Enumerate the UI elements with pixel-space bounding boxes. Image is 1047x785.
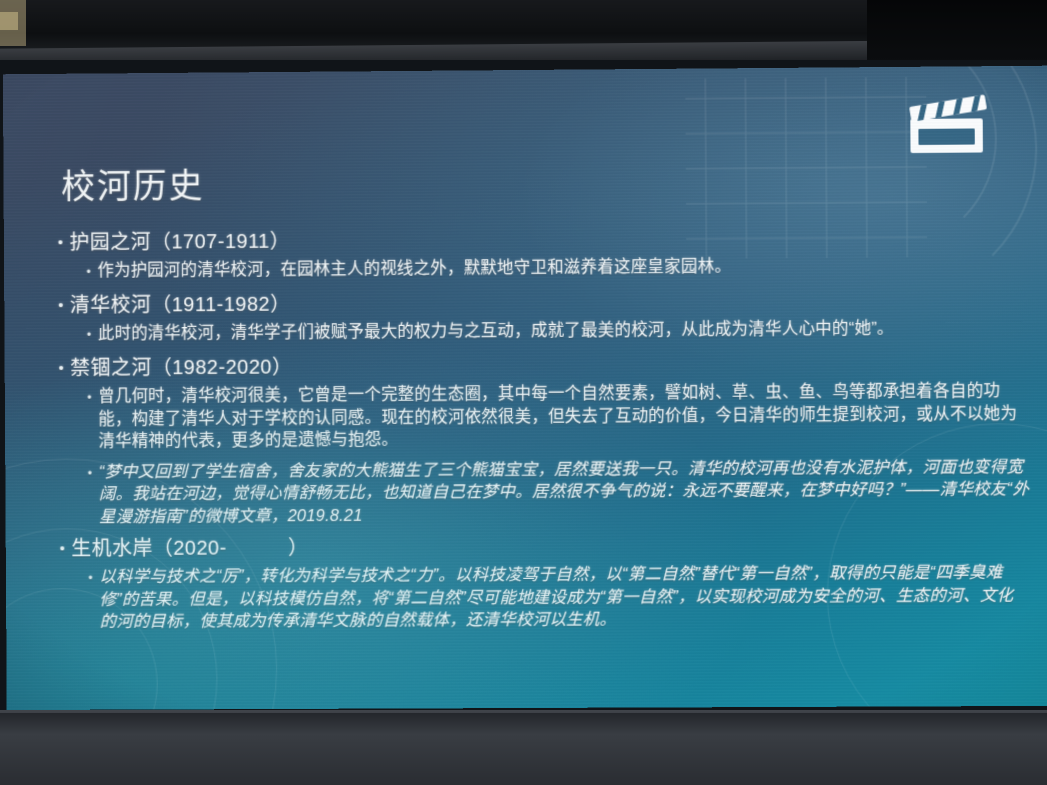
bullet-dot-icon: •: [52, 354, 70, 384]
bullet-dot-icon: •: [52, 291, 70, 321]
section-quote-text: “梦中又回到了学生宿舍，舍友家的大熊猫生了三个熊猫宝宝，居然要送我一只。清华的校…: [99, 456, 1030, 529]
ceiling-light-notch-inner: [0, 12, 18, 30]
sub-bullet-dot-icon: •: [80, 260, 98, 285]
slide-body: • 护园之河（1707-1911） • 作为护园河的清华校河，在园林主人的视线之…: [52, 221, 1035, 639]
section-heading-row: • 禁锢之河（1982-2020）: [52, 348, 1032, 384]
section-heading: 护园之河（1707-1911）: [69, 227, 290, 258]
sub-bullet-dot-icon: •: [80, 323, 98, 348]
section-heading-row: • 生机水岸（2020- ）: [53, 529, 1033, 564]
section-2: • 清华校河（1911-1982） • 此时的清华校河，清华学子们被赋予最大的权…: [52, 285, 1032, 348]
section-heading: 禁锢之河（1982-2020）: [70, 352, 292, 383]
sub-bullet-dot-icon: •: [81, 461, 99, 486]
section-heading: 生机水岸（2020- ）: [71, 533, 308, 564]
section-item-row: • 此时的清华校河，清华学子们被赋予最大的权力与之互动，成就了最美的校河，从此成…: [52, 317, 1032, 348]
section-heading-row: • 清华校河（1911-1982）: [52, 285, 1032, 322]
presentation-slide: 校河历史 • 护园之河（1707-1911） • 作为护园河的清华校河，在园林主…: [3, 66, 1047, 710]
section-item-text: 此时的清华校河，清华学子们被赋予最大的权力与之互动，成就了最美的校河，从此成为清…: [98, 318, 894, 346]
projected-slide-photo: 校河历史 • 护园之河（1707-1911） • 作为护园河的清华校河，在园林主…: [0, 0, 1047, 785]
section-4: • 生机水岸（2020- ） • 以科学与技术之“厉”，转化为科学与技术之“力”…: [53, 529, 1034, 633]
slide-content: 校河历史 • 护园之河（1707-1911） • 作为护园河的清华校河，在园林主…: [3, 66, 1047, 710]
page-title: 校河历史: [61, 158, 205, 208]
section-3: • 禁锢之河（1982-2020） • 曾几何时，清华校河很美，它曾是一个完整的…: [52, 348, 1033, 529]
section-item-text: 曾几何时，清华校河很美，它曾是一个完整的生态圈，其中每一个自然要素，譬如树、草、…: [98, 380, 1029, 453]
bullet-dot-icon: •: [53, 534, 71, 564]
section-item-row: • 作为护园河的清华校河，在园林主人的视线之外，默默地守卫和滋养着这座皇家园林。: [52, 253, 1032, 285]
section-1: • 护园之河（1707-1911） • 作为护园河的清华校河，在园林主人的视线之…: [52, 221, 1032, 285]
section-item-text: 作为护园河的清华校河，在园林主人的视线之外，默默地守卫和滋养着这座皇家园林。: [97, 256, 731, 283]
section-quote-row: • “梦中又回到了学生宿舍，舍友家的大熊猫生了三个熊猫宝宝，居然要送我一只。清华…: [53, 456, 1034, 529]
sub-bullet-dot-icon: •: [81, 566, 99, 591]
bullet-dot-icon: •: [52, 228, 70, 258]
section-item-text: 以科学与技术之“厉”，转化为科学与技术之“力”。以科技凌驾于自然，以“第二自然”…: [99, 561, 1030, 633]
section-item-row: • 曾几何时，清华校河很美，它曾是一个完整的生态圈，其中每一个自然要素，譬如树、…: [52, 380, 1033, 453]
desk-surface: [0, 713, 1047, 785]
sub-bullet-dot-icon: •: [80, 386, 98, 411]
section-item-row: • 以科学与技术之“厉”，转化为科学与技术之“力”。以科技凌驾于自然，以“第二自…: [54, 561, 1035, 633]
section-heading-row: • 护园之河（1707-1911）: [52, 221, 1032, 258]
ceiling-shadow-right: [867, 0, 1047, 62]
section-heading: 清华校河（1911-1982）: [70, 290, 291, 321]
